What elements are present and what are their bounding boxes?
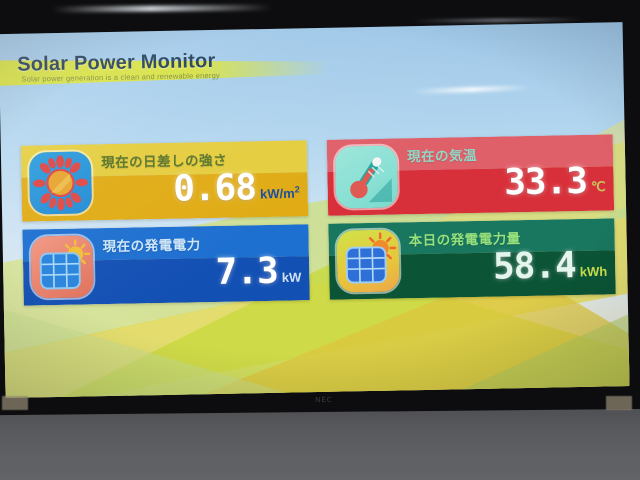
app-header: Solar Power Monitor Solar power generati… — [0, 23, 560, 88]
panel-unit: kW — [282, 268, 302, 289]
bezel-glare-streak — [52, 4, 272, 12]
panel-readout: 33.3 ℃ — [504, 164, 606, 200]
panel-readout: 7.3 kW — [215, 254, 301, 290]
monitor-brand-mark: NEC — [315, 396, 333, 404]
panel-readout: 0.68 kW/m2 — [173, 170, 300, 207]
bezel-glare-streak-secondary — [412, 17, 582, 23]
panel-readout: 58.4 kWh — [493, 248, 608, 284]
photographed-monitor-scene: NEC Solar Power Monitor Solar power gene… — [0, 0, 640, 480]
panel-label: 現在の発電電力 — [103, 233, 201, 255]
panel-value: 0.68 — [173, 171, 256, 207]
solar-panel-sun-icon — [31, 235, 94, 298]
panel-value: 58.4 — [493, 249, 576, 285]
metric-panel-daily-energy[interactable]: 本日の発電電力量 58.4 kWh — [328, 218, 615, 299]
monitor-stand-foot-left — [2, 396, 28, 410]
panel-value: 33.3 — [504, 165, 587, 201]
thermometer-icon — [335, 145, 398, 208]
wall-background — [0, 404, 640, 480]
panel-unit: kW/m2 — [260, 184, 300, 205]
panel-unit: ℃ — [591, 177, 606, 199]
metric-panel-temperature[interactable]: 現在の気温 33.3 ℃ — [327, 134, 614, 215]
sun-icon — [29, 151, 92, 214]
panel-unit: kWh — [580, 262, 608, 283]
metric-panel-irradiance[interactable]: 現在の日差しの強さ 0.68 kW/m2 — [21, 140, 308, 221]
solar-panel-sun-icon — [336, 229, 399, 292]
metric-panel-grid: 現在の日差しの強さ 0.68 kW/m2 — [21, 134, 616, 315]
panel-value: 7.3 — [215, 255, 278, 290]
monitor-bezel: NEC Solar Power Monitor Solar power gene… — [0, 0, 640, 415]
metric-panel-current-power[interactable]: 現在の発電電力 7.3 kW — [22, 224, 309, 305]
panel-label: 現在の気温 — [407, 144, 477, 165]
monitor-stand-foot-right — [606, 396, 632, 410]
screen-content: Solar Power Monitor Solar power generati… — [0, 22, 629, 398]
screen-glare-highlight — [412, 85, 532, 94]
